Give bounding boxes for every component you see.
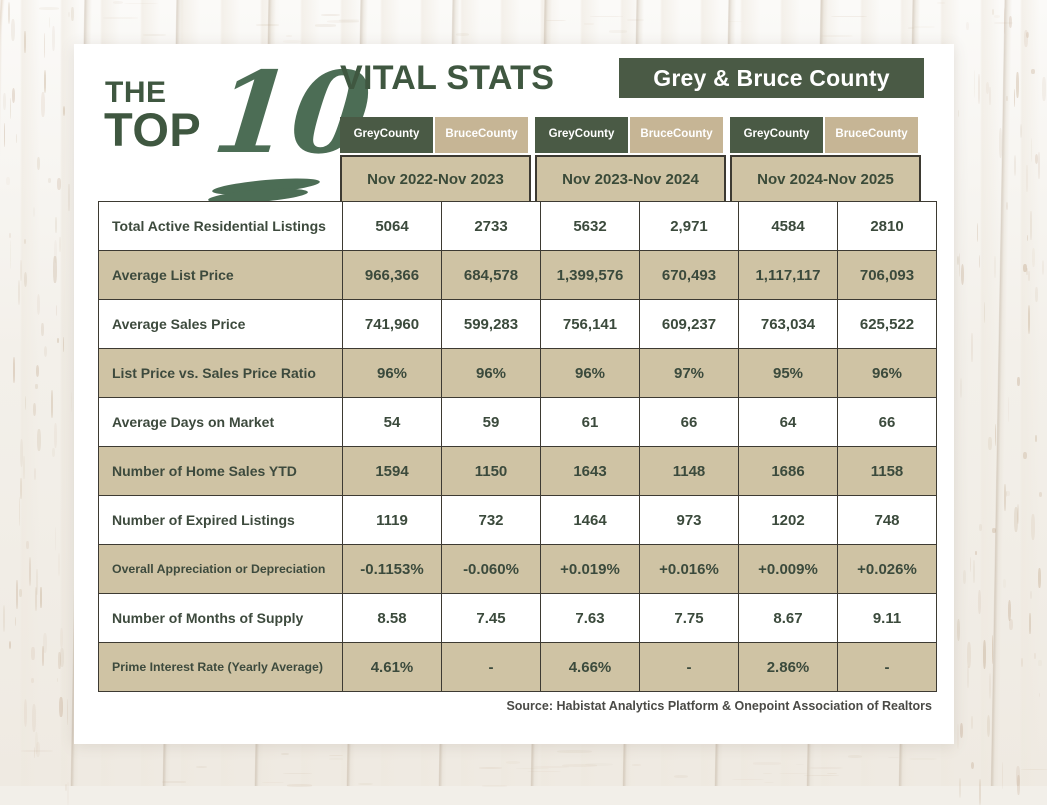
wood-grain-fleck — [732, 779, 764, 781]
wood-grain-fleck — [321, 14, 340, 16]
wood-grain-fleck — [1028, 271, 1030, 280]
row-value: 1202 — [739, 496, 838, 545]
wood-grain-fleck — [19, 497, 21, 526]
table-row: Overall Appreciation or Depreciation-0.1… — [99, 545, 937, 594]
wood-grain-fleck — [1023, 452, 1027, 459]
wood-grain-fleck — [960, 723, 963, 738]
wood-grain-fleck — [1006, 96, 1007, 102]
wood-grain-fleck — [329, 758, 343, 760]
wood-grain-fleck — [55, 527, 56, 551]
row-label: Number of Expired Listings — [99, 496, 343, 545]
wood-grain-fleck — [59, 697, 63, 717]
row-value: 1686 — [739, 447, 838, 496]
wood-grain-fleck — [42, 646, 44, 666]
row-value: 95% — [739, 349, 838, 398]
row-value: 1594 — [343, 447, 442, 496]
wood-grain-fleck — [1008, 600, 1011, 621]
wood-grain-fleck — [1031, 514, 1035, 541]
period-header-2: Nov 2023-Nov 2024 — [535, 155, 726, 203]
wood-grain-fleck — [971, 333, 973, 362]
row-value: 732 — [442, 496, 541, 545]
wood-grain-fleck — [44, 70, 46, 93]
row-value: 1,117,117 — [739, 251, 838, 300]
row-value: 96% — [838, 349, 937, 398]
wood-grain-fleck — [971, 716, 973, 729]
wood-grain-fleck — [609, 30, 627, 33]
row-value: 66 — [640, 398, 739, 447]
wood-grain-fleck — [1014, 507, 1018, 532]
row-value: 1464 — [541, 496, 640, 545]
wood-grain-fleck — [286, 35, 292, 37]
wood-grain-fleck — [1034, 653, 1036, 659]
county-chip-row: GreyCountyBruceCountyGreyCountyBruceCoun… — [340, 117, 925, 153]
wood-grain-fleck — [315, 24, 336, 26]
row-value: 4.61% — [343, 643, 442, 692]
wood-grain-fleck — [1016, 72, 1019, 98]
row-value: 96% — [541, 349, 640, 398]
wood-grain-fleck — [1004, 8, 1005, 35]
wood-grain-fleck — [967, 642, 971, 668]
wood-grain-fleck — [1038, 568, 1041, 587]
wood-grain-fleck — [967, 666, 969, 688]
wood-grain-fleck — [1042, 260, 1044, 275]
wood-grain-fleck — [978, 74, 980, 104]
wood-grain-fleck — [60, 628, 63, 648]
row-value: 61 — [541, 398, 640, 447]
table-row: Average Sales Price741,960599,283756,141… — [99, 300, 937, 349]
row-label: Average List Price — [99, 251, 343, 300]
wood-grain-fleck — [63, 337, 64, 353]
wood-grain-fleck — [516, 768, 550, 769]
wood-grain-fleck — [1031, 69, 1035, 75]
wood-grain-fleck — [3, 93, 6, 110]
row-value: 1150 — [442, 447, 541, 496]
wood-grain-fleck — [1038, 152, 1040, 179]
row-value: 1148 — [640, 447, 739, 496]
row-value: 2810 — [838, 202, 937, 251]
row-value: 670,493 — [640, 251, 739, 300]
county-chip-5: GreyCounty — [730, 117, 823, 153]
wood-grain-fleck — [979, 255, 980, 268]
wood-grain-fleck — [1029, 613, 1031, 634]
wood-grain-fleck — [37, 429, 41, 452]
wood-grain-fleck — [57, 178, 61, 190]
wood-grain-fleck — [728, 21, 742, 23]
county-chip-line: County — [868, 128, 908, 141]
period-header-1: Nov 2022-Nov 2023 — [340, 155, 531, 203]
wood-grain-fleck — [584, 23, 594, 24]
wood-grain-fleck — [974, 70, 975, 98]
wood-grain-fleck — [21, 750, 53, 752]
wood-grain-fleck — [479, 767, 502, 769]
row-value: 66 — [838, 398, 937, 447]
county-chip-line: Bruce — [445, 128, 478, 141]
row-value: 8.58 — [343, 594, 442, 643]
row-value: 5064 — [343, 202, 442, 251]
wood-grain-fleck — [1035, 287, 1038, 302]
row-value: 4.66% — [541, 643, 640, 692]
wood-grain-fleck — [779, 773, 808, 774]
wood-grain-fleck — [585, 763, 613, 766]
row-value: +0.016% — [640, 545, 739, 594]
wood-grain-fleck — [984, 302, 985, 322]
row-value: 64 — [739, 398, 838, 447]
wood-grain-fleck — [20, 260, 22, 281]
row-value: +0.009% — [739, 545, 838, 594]
row-value: -0.1153% — [343, 545, 442, 594]
row-value: 97% — [640, 349, 739, 398]
wood-grain-fleck — [15, 617, 16, 626]
wood-grain-fleck — [281, 753, 289, 755]
row-value: - — [838, 643, 937, 692]
wood-grain-fleck — [358, 783, 373, 785]
wood-grain-fleck — [1039, 492, 1043, 497]
table-row: Prime Interest Rate (Yearly Average)4.61… — [99, 643, 937, 692]
wood-grain-fleck — [796, 764, 805, 765]
wood-grain-fleck — [809, 767, 843, 770]
wood-grain-fleck — [979, 779, 981, 805]
wood-grain-fleck — [1028, 305, 1030, 335]
wood-grain-fleck — [1021, 658, 1023, 668]
wood-grain-fleck — [8, 2, 11, 25]
row-value: 756,141 — [541, 300, 640, 349]
wood-grain-fleck — [36, 569, 38, 594]
wood-grain-fleck — [994, 256, 996, 278]
wood-grain-fleck — [1038, 660, 1042, 666]
county-chip-1: GreyCounty — [340, 117, 433, 153]
wood-grain-fleck — [1024, 30, 1028, 47]
row-value: 1119 — [343, 496, 442, 545]
wood-grain-fleck — [327, 20, 360, 23]
wood-grain-fleck — [113, 1, 124, 4]
wood-grain-fleck — [49, 17, 51, 28]
wood-grain-fleck — [977, 223, 979, 242]
wood-grain-fleck — [10, 240, 12, 269]
table-row: Average List Price966,366684,5781,399,57… — [99, 251, 937, 300]
wood-grain-fleck — [18, 280, 20, 305]
wood-grain-fleck — [1008, 397, 1009, 422]
report-card: THE TOP 10 VITAL STATS Grey & Bruce Coun… — [74, 44, 954, 744]
wood-grain-fleck — [1030, 591, 1032, 600]
row-value: 763,034 — [739, 300, 838, 349]
wood-grain-fleck — [994, 15, 1001, 18]
row-label: List Price vs. Sales Price Ratio — [99, 349, 343, 398]
wood-grain-fleck — [59, 237, 61, 252]
wood-grain-fleck — [9, 233, 11, 238]
wood-grain-fleck — [960, 378, 963, 398]
wood-grain-fleck — [283, 40, 301, 43]
wood-grain-fleck — [6, 177, 10, 185]
wood-grain-fleck — [963, 570, 966, 584]
wood-grain-fleck — [1042, 77, 1046, 101]
wood-grain-fleck — [16, 580, 18, 609]
row-value: 966,366 — [343, 251, 442, 300]
county-chip-4: BruceCounty — [630, 117, 723, 153]
wood-grain-fleck — [24, 239, 26, 245]
wood-grain-fleck — [999, 128, 1002, 157]
wood-grain-fleck — [1009, 619, 1013, 630]
wood-grain-fleck — [31, 678, 34, 683]
wood-grain-fleck — [196, 766, 208, 768]
row-value: 2.86% — [739, 643, 838, 692]
row-value: 706,093 — [838, 251, 937, 300]
wood-grain-fleck — [992, 635, 993, 664]
row-label: Number of Months of Supply — [99, 594, 343, 643]
wood-grain-fleck — [937, 2, 945, 4]
county-chip-line: County — [673, 128, 713, 141]
logo-line-top: TOP — [104, 106, 201, 153]
wood-grain-fleck — [987, 715, 991, 737]
wood-grain-fleck — [1017, 775, 1020, 795]
wood-grain-fleck — [1006, 202, 1008, 210]
wood-grain-fleck — [56, 305, 58, 316]
wood-grain-fleck — [52, 26, 55, 51]
wood-grain-fleck — [329, 755, 343, 757]
wood-grain-fleck — [992, 9, 994, 15]
wood-grain-fleck — [1039, 693, 1041, 697]
wood-grain-fleck — [19, 589, 21, 597]
row-label: Total Active Residential Listings — [99, 202, 343, 251]
county-chip-line: County — [770, 128, 810, 141]
wood-grain-fleck — [1027, 235, 1028, 240]
table-row: Number of Months of Supply8.587.457.637.… — [99, 594, 937, 643]
wood-grain-fleck — [959, 778, 962, 798]
wood-grain-fleck — [827, 773, 837, 775]
wood-grain-fleck — [55, 217, 57, 233]
wood-grain-fleck — [753, 762, 781, 764]
row-value: 609,237 — [640, 300, 739, 349]
wood-grain-fleck — [1003, 579, 1006, 587]
source-note: Source: Habistat Analytics Platform & On… — [98, 699, 932, 713]
wood-grain-fleck — [51, 390, 53, 419]
wood-grain-fleck — [983, 640, 986, 669]
wood-grain-fleck — [34, 468, 36, 479]
wood-grain-fleck — [1031, 138, 1033, 162]
wood-grain-fleck — [1002, 762, 1003, 789]
table-row: Total Active Residential Listings5064273… — [99, 202, 937, 251]
wood-grain-fleck — [848, 755, 862, 758]
wood-grain-fleck — [632, 764, 641, 766]
wood-grain-fleck — [1021, 769, 1047, 770]
row-value: 1158 — [838, 447, 937, 496]
wood-grain-fleck — [979, 524, 982, 531]
county-chip-line: County — [478, 128, 518, 141]
wood-grain-fleck — [1014, 155, 1017, 176]
wood-grain-fleck — [546, 20, 567, 21]
wood-grain-fleck — [973, 560, 975, 583]
wood-grain-fleck — [909, 758, 937, 761]
wood-grain-fleck — [24, 699, 28, 727]
wood-grain-fleck — [103, 17, 138, 19]
wood-grain-fleck — [627, 19, 645, 21]
wood-grain-fleck — [41, 92, 45, 117]
row-value: 96% — [343, 349, 442, 398]
row-value: 2,971 — [640, 202, 739, 251]
wood-grain-fleck — [33, 403, 36, 416]
wood-grain-fleck — [804, 775, 840, 776]
row-value: 1643 — [541, 447, 640, 496]
row-value: - — [442, 643, 541, 692]
region-badge: Grey & Bruce County — [619, 58, 924, 98]
wood-grain-fleck — [763, 773, 773, 775]
wood-grain-fleck — [37, 294, 41, 316]
wood-grain-fleck — [1035, 435, 1037, 442]
wood-grain-fleck — [29, 557, 31, 586]
wood-grain-fleck — [3, 605, 6, 632]
vital-stats-table: Total Active Residential Listings5064273… — [98, 201, 937, 692]
wood-grain-fleck — [989, 87, 991, 106]
row-value: 973 — [640, 496, 739, 545]
wood-grain-fleck — [26, 541, 29, 549]
wood-grain-fleck — [23, 456, 25, 479]
wood-grain-fleck — [995, 424, 996, 447]
wood-grain-fleck — [821, 35, 852, 38]
wood-grain-fleck — [888, 757, 899, 758]
wood-grain-fleck — [162, 781, 186, 783]
row-value: 599,283 — [442, 300, 541, 349]
row-value: +0.026% — [838, 545, 937, 594]
wood-grain-fleck — [971, 762, 975, 769]
wood-grain-fleck — [54, 423, 57, 448]
wood-grain-fleck — [37, 157, 40, 171]
wood-grain-fleck — [1032, 248, 1035, 268]
wood-grain-fleck — [527, 771, 561, 773]
vital-stats-table-body: Total Active Residential Listings5064273… — [99, 202, 937, 692]
wood-grain-fleck — [24, 31, 26, 53]
period-header-row: Nov 2022-Nov 2023Nov 2023-Nov 2024Nov 20… — [340, 155, 925, 199]
row-value: 7.63 — [541, 594, 640, 643]
row-label: Overall Appreciation or Depreciation — [99, 545, 343, 594]
wood-grain-fleck — [256, 24, 279, 26]
county-chip-line: Grey — [549, 128, 575, 141]
table-row: Number of Expired Listings11197321464973… — [99, 496, 937, 545]
row-value: 96% — [442, 349, 541, 398]
table-row: List Price vs. Sales Price Ratio96%96%96… — [99, 349, 937, 398]
wood-grain-fleck — [506, 761, 521, 764]
period-header-3: Nov 2024-Nov 2025 — [730, 155, 921, 203]
wood-grain-fleck — [65, 784, 67, 791]
wood-grain-fleck — [32, 704, 36, 732]
wood-grain-fleck — [970, 557, 971, 572]
wood-grain-fleck — [143, 34, 166, 36]
wood-grain-fleck — [674, 775, 688, 778]
wood-grain-fleck — [994, 22, 1014, 24]
wood-grain-fleck — [71, 7, 74, 21]
wood-grain-fleck — [68, 12, 70, 18]
row-value: 5632 — [541, 202, 640, 251]
wood-grain-fleck — [44, 33, 45, 58]
wood-grain-fleck — [989, 673, 992, 699]
wood-grain-fleck — [40, 587, 42, 608]
row-label: Number of Home Sales YTD — [99, 447, 343, 496]
row-label: Average Sales Price — [99, 300, 343, 349]
row-value: 684,578 — [442, 251, 541, 300]
wood-grain-fleck — [966, 22, 969, 30]
wood-grain-fleck — [68, 184, 69, 211]
row-value: 9.11 — [838, 594, 937, 643]
row-value: 4584 — [739, 202, 838, 251]
wood-grain-fleck — [10, 98, 11, 119]
wood-grain-fleck — [1026, 165, 1028, 192]
wood-grain-fleck — [57, 678, 58, 682]
row-value: 54 — [343, 398, 442, 447]
wood-grain-fleck — [39, 7, 59, 10]
county-chip-line: Grey — [354, 128, 380, 141]
wood-grain-fleck — [63, 106, 66, 116]
wood-grain-fleck — [54, 240, 58, 263]
wood-grain-fleck — [1020, 124, 1022, 139]
wood-grain-fleck — [1014, 89, 1015, 108]
wood-grain-fleck — [590, 16, 623, 17]
wood-grain-fleck — [41, 323, 44, 337]
county-chip-line: Grey — [744, 128, 770, 141]
wood-grain-fleck — [11, 19, 15, 41]
row-value: 59 — [442, 398, 541, 447]
wood-grain-fleck — [36, 365, 40, 377]
wood-grain-fleck — [957, 256, 959, 266]
wood-grain-fleck — [33, 207, 35, 217]
wood-grain-fleck — [557, 750, 592, 753]
row-value: +0.019% — [541, 545, 640, 594]
wood-grain-fleck — [71, 392, 72, 412]
wood-grain-fleck — [25, 396, 26, 410]
row-label: Prime Interest Rate (Yearly Average) — [99, 643, 343, 692]
wood-grain-fleck — [44, 346, 48, 357]
county-chip-line: County — [575, 128, 615, 141]
wood-grain-fleck — [13, 357, 15, 383]
wood-grain-fleck — [24, 272, 28, 288]
row-value: 7.75 — [640, 594, 739, 643]
wood-grain-fleck — [67, 699, 68, 725]
wood-grain-fleck — [913, 26, 935, 28]
wood-grain-fleck — [988, 437, 991, 450]
wood-grain-fleck — [58, 553, 60, 576]
page-title: VITAL STATS — [340, 60, 554, 97]
wood-grain-fleck — [961, 264, 965, 285]
row-value: 1,399,576 — [541, 251, 640, 300]
top-10-logo: THE TOP 10 — [104, 64, 344, 219]
county-chip-6: BruceCounty — [825, 117, 918, 153]
county-chip-line: Bruce — [835, 128, 868, 141]
wood-grain-fleck — [283, 773, 312, 775]
wood-grain-fleck — [124, 3, 158, 5]
wood-grain-fleck — [35, 384, 38, 390]
wood-grain-fleck — [9, 641, 12, 649]
wood-grain-fleck — [975, 551, 977, 556]
wood-grain-fleck — [67, 782, 69, 805]
wood-grain-fleck — [60, 648, 64, 667]
wood-grain-fleck — [31, 647, 34, 660]
row-value: 625,522 — [838, 300, 937, 349]
table-row: Average Days on Market545961666466 — [99, 398, 937, 447]
wood-grain-fleck — [992, 528, 996, 533]
wood-grain-fleck — [12, 88, 15, 103]
wood-grain-fleck — [958, 110, 959, 117]
wood-grain-fleck — [1004, 484, 1006, 511]
county-chip-3: GreyCounty — [535, 117, 628, 153]
wood-grain-fleck — [957, 619, 960, 642]
wood-grain-fleck — [16, 134, 18, 143]
wood-grain-fleck — [1017, 377, 1020, 386]
row-value: -0.060% — [442, 545, 541, 594]
wood-grain-fleck — [831, 16, 867, 18]
row-value: - — [640, 643, 739, 692]
county-chip-line: Bruce — [640, 128, 673, 141]
county-chip-2: BruceCounty — [435, 117, 528, 153]
row-value: 748 — [838, 496, 937, 545]
row-label: Average Days on Market — [99, 398, 343, 447]
wood-grain-fleck — [1030, 211, 1032, 240]
